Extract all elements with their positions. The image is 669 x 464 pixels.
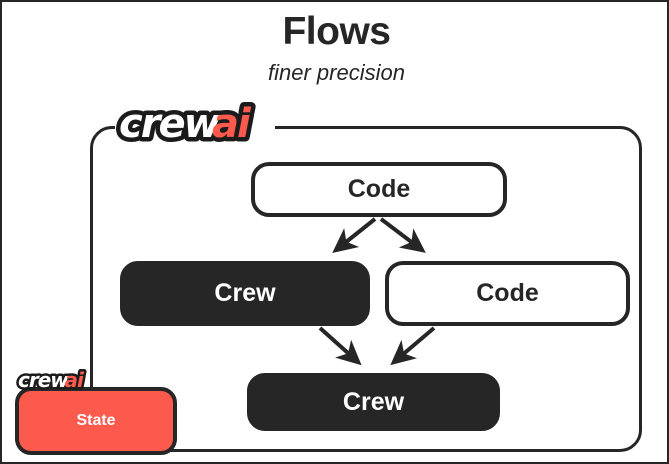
node-code-top-label: Code [348,175,411,204]
node-code-mid[interactable]: Code [385,261,630,326]
crewai-logo-crew: crew [119,101,222,147]
node-crew-mid[interactable]: Crew [120,261,370,326]
crewai-logo-ai: ai [212,101,252,147]
node-state-label: State [76,412,115,430]
page-title: Flows [2,10,669,54]
node-crew-mid-label: Crew [214,279,275,308]
crewai-logo-small-crew: crew [18,368,69,392]
node-state[interactable]: State [15,387,177,455]
node-crew-bot-label: Crew [343,388,404,417]
page-subtitle: finer precision [2,60,669,86]
node-crew-bot[interactable]: Crew [247,373,500,431]
diagram-canvas: Flows finer precision Code Crew Code Cre… [0,0,669,464]
crewai-logo: crew ai crew ai [115,101,275,149]
node-code-mid-label: Code [476,279,539,308]
crewai-logo-small: crew ai crew ai [16,368,96,394]
node-code-top[interactable]: Code [251,162,507,217]
crewai-logo-small-ai: ai [65,368,85,392]
